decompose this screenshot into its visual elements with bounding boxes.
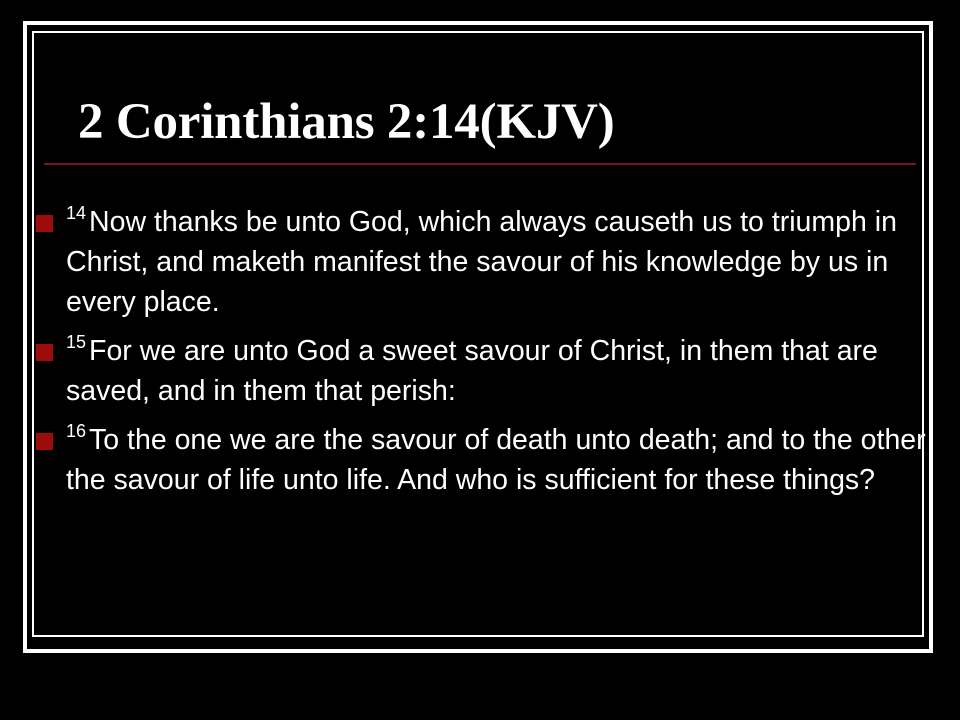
verse-text: For we are unto God a sweet savour of Ch…	[66, 335, 878, 407]
bullet-square-icon	[36, 344, 53, 361]
bullet-square-icon	[36, 215, 53, 232]
verse-paragraph: 14Now thanks be unto God, which always c…	[66, 202, 930, 322]
verse-text: Now thanks be unto God, which always cau…	[66, 206, 897, 318]
verse-number: 16	[66, 421, 89, 441]
list-item: 14Now thanks be unto God, which always c…	[28, 202, 930, 322]
title-block: 2 Corinthians 2:14(KJV)	[40, 92, 920, 165]
verse-paragraph: 16To the one we are the savour of death …	[66, 420, 930, 500]
page-title: 2 Corinthians 2:14(KJV)	[40, 92, 920, 152]
list-item: 16To the one we are the savour of death …	[28, 420, 930, 500]
verse-number: 15	[66, 332, 89, 352]
bullet-square-icon	[36, 433, 53, 450]
verse-text: To the one we are the savour of death un…	[66, 424, 926, 496]
list-item: 15For we are unto God a sweet savour of …	[28, 331, 930, 411]
verse-number: 14	[66, 203, 89, 223]
verse-paragraph: 15For we are unto God a sweet savour of …	[66, 331, 930, 411]
verse-list: 14Now thanks be unto God, which always c…	[28, 202, 930, 509]
scripture-slide: 2 Corinthians 2:14(KJV) 14Now thanks be …	[0, 0, 960, 720]
title-divider	[44, 163, 916, 165]
